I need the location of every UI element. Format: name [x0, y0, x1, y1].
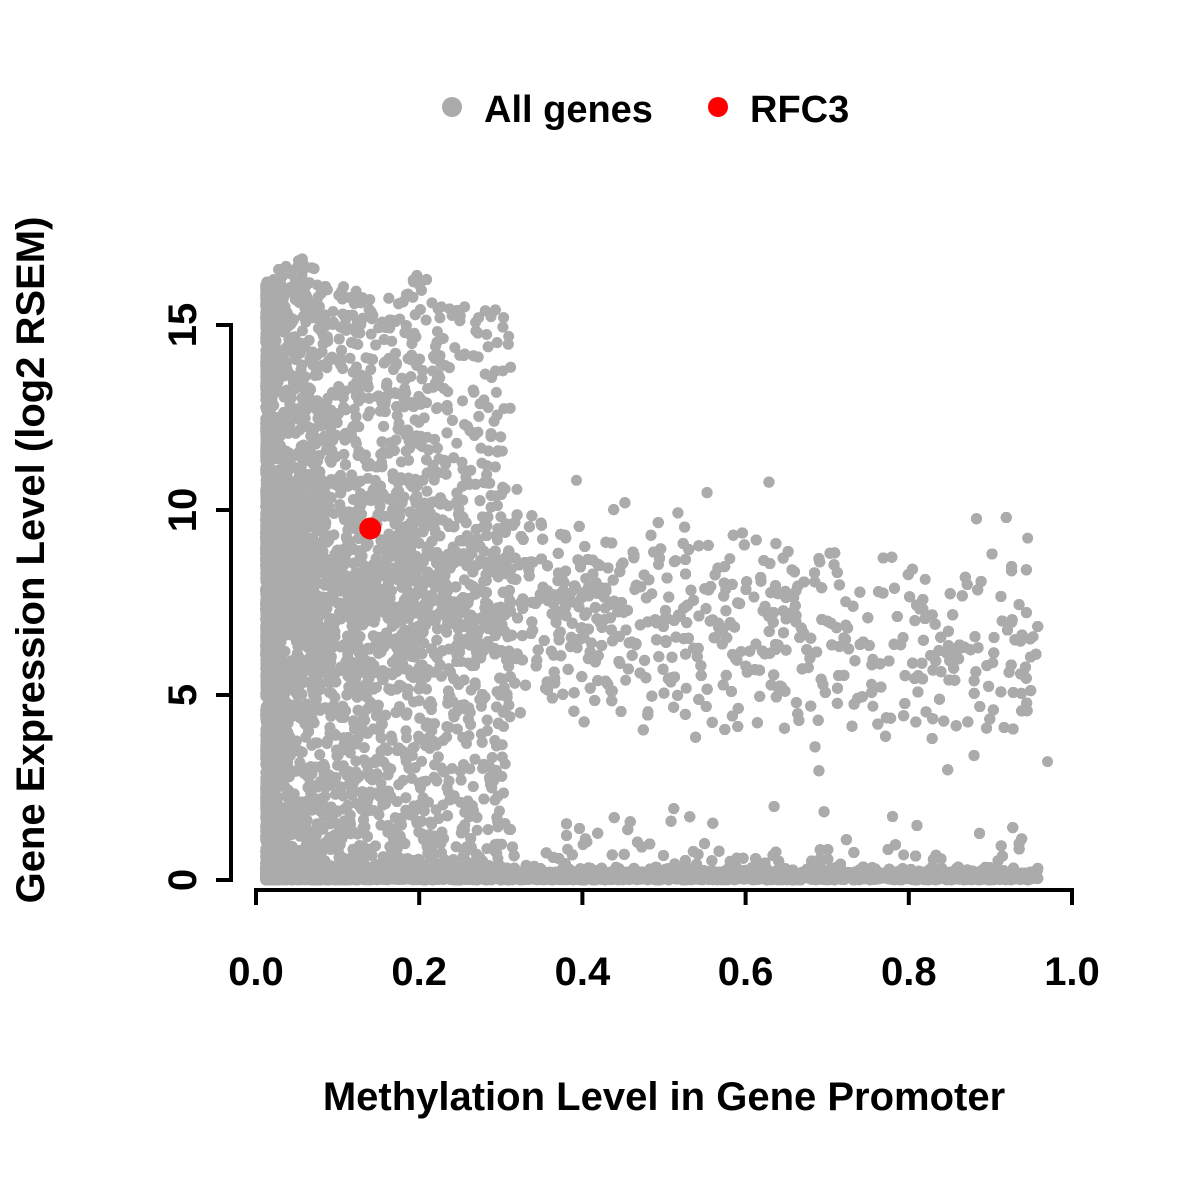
gene-point: [620, 675, 631, 686]
gene-point: [681, 683, 692, 694]
gene-point: [898, 849, 909, 860]
gene-point: [511, 484, 522, 495]
gene-point: [867, 701, 878, 712]
gene-point: [748, 592, 759, 603]
plot-canvas: 0.00.20.40.60.81.0 051015 Methylation Le…: [0, 0, 1200, 1200]
gene-point: [1022, 533, 1033, 544]
gene-point: [571, 475, 582, 486]
scatter-plot-figure: 0.00.20.40.60.81.0 051015 Methylation Le…: [0, 0, 1200, 1200]
gene-point: [920, 574, 931, 585]
